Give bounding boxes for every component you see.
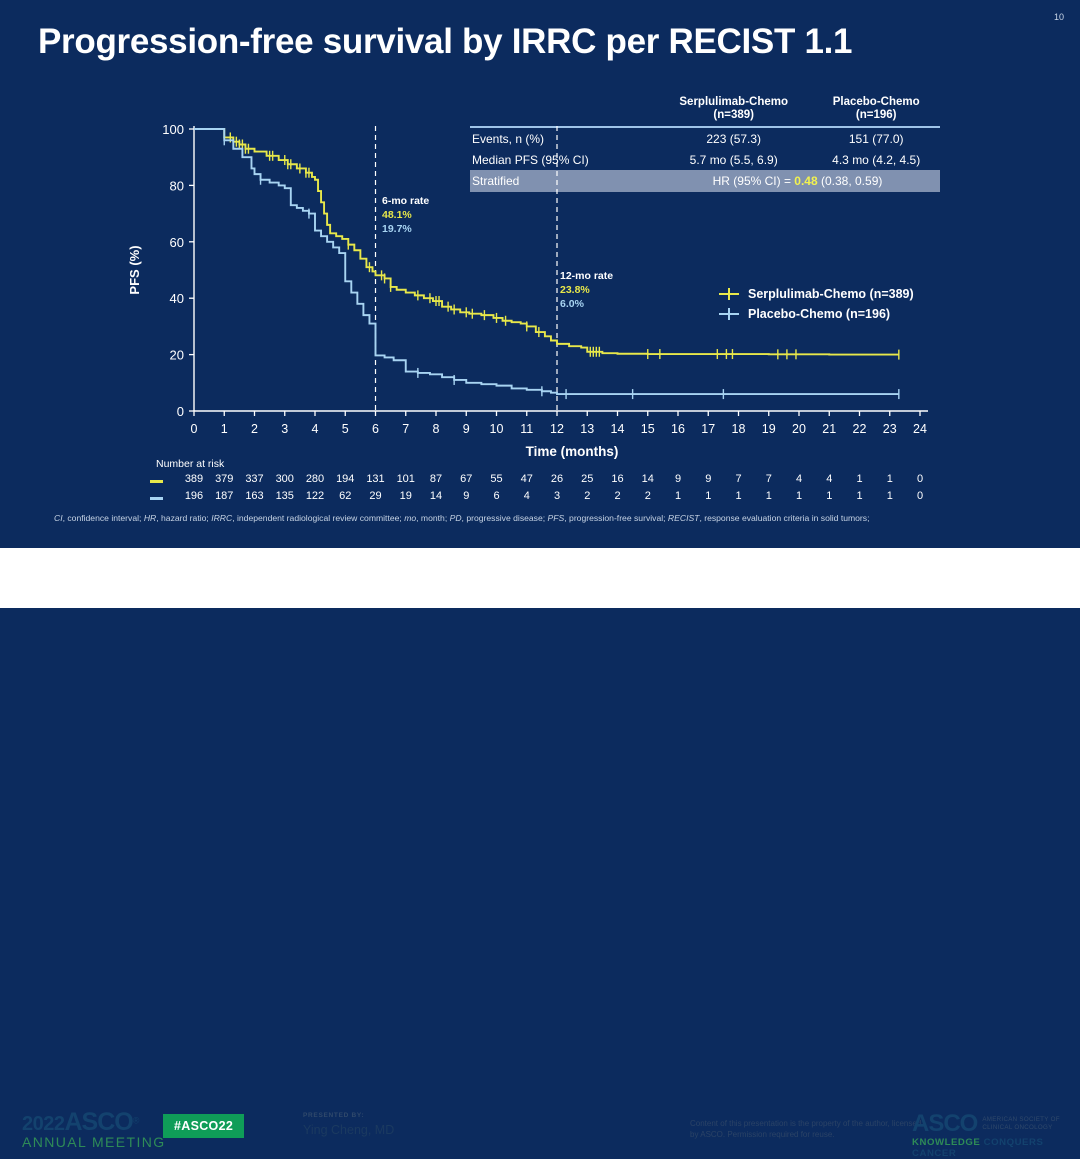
svg-text:21: 21 bbox=[822, 422, 836, 436]
risk-count: 87 bbox=[423, 473, 449, 485]
asco-logo-right: ASCO AMERICAN SOCIETY OF CLINICAL ONCOLO… bbox=[912, 1113, 1080, 1159]
asco-subtitle: AMERICAN SOCIETY OF CLINICAL ONCOLOGY bbox=[982, 1116, 1059, 1132]
svg-text:16: 16 bbox=[671, 422, 685, 436]
hashtag-badge: #ASCO22 bbox=[163, 1114, 244, 1138]
risk-count: 3 bbox=[544, 490, 570, 502]
svg-text:2: 2 bbox=[251, 422, 258, 436]
legend-label-placebo: Placebo-Chemo (n=196) bbox=[748, 307, 890, 321]
presented-by-label: PRESENTED BY: bbox=[303, 1112, 394, 1119]
risk-count: 62 bbox=[332, 490, 358, 502]
legend-label-serplulimab: Serplulimab-Chemo (n=389) bbox=[748, 287, 914, 301]
risk-count: 1 bbox=[847, 473, 873, 485]
risk-count: 19 bbox=[393, 490, 419, 502]
asco-wordmark: ASCO bbox=[912, 1113, 977, 1135]
annotation-12-month: 12-mo rate 23.8% 6.0% bbox=[560, 269, 613, 311]
risk-count: 4 bbox=[786, 473, 812, 485]
risk-count: 9 bbox=[665, 473, 691, 485]
svg-text:18: 18 bbox=[732, 422, 746, 436]
risk-count: 122 bbox=[302, 490, 328, 502]
risk-count: 300 bbox=[272, 473, 298, 485]
svg-text:20: 20 bbox=[792, 422, 806, 436]
risk-count: 1 bbox=[695, 490, 721, 502]
y-axis-label: PFS (%) bbox=[127, 245, 142, 294]
svg-text:9: 9 bbox=[463, 422, 470, 436]
legend-marker-icon bbox=[718, 287, 740, 301]
registered-mark-icon: ® bbox=[133, 1116, 140, 1126]
risk-count: 1 bbox=[877, 473, 903, 485]
svg-text:14: 14 bbox=[611, 422, 625, 436]
chart-axes: 020406080100 012345678910111213141516171… bbox=[162, 122, 928, 436]
risk-count: 14 bbox=[423, 490, 449, 502]
risk-count: 29 bbox=[363, 490, 389, 502]
legend-item-serplulimab: Serplulimab-Chemo (n=389) bbox=[718, 284, 914, 304]
svg-text:24: 24 bbox=[913, 422, 927, 436]
risk-count: 6 bbox=[484, 490, 510, 502]
annotation-6-serplulimab: 48.1% bbox=[382, 208, 429, 222]
risk-row-color-swatch bbox=[150, 497, 163, 500]
chart-legend: Serplulimab-Chemo (n=389) Placebo-Chemo … bbox=[718, 284, 914, 324]
risk-count: 9 bbox=[695, 473, 721, 485]
svg-text:4: 4 bbox=[312, 422, 319, 436]
svg-text:23: 23 bbox=[883, 422, 897, 436]
legend-marker-icon bbox=[718, 307, 740, 321]
svg-text:6: 6 bbox=[372, 422, 379, 436]
risk-count: 280 bbox=[302, 473, 328, 485]
risk-count: 187 bbox=[211, 490, 237, 502]
risk-count: 131 bbox=[363, 473, 389, 485]
svg-text:0: 0 bbox=[177, 404, 184, 419]
reference-lines bbox=[376, 126, 558, 411]
svg-text:8: 8 bbox=[433, 422, 440, 436]
svg-text:60: 60 bbox=[170, 235, 184, 250]
risk-count: 1 bbox=[726, 490, 752, 502]
risk-count: 16 bbox=[605, 473, 631, 485]
logo-annual-meeting: ANNUAL MEETING bbox=[22, 1134, 166, 1150]
risk-count: 55 bbox=[484, 473, 510, 485]
annotation-12-title: 12-mo rate bbox=[560, 269, 613, 283]
svg-text:100: 100 bbox=[162, 122, 184, 137]
asco-tagline: KNOWLEDGE CONQUERS CANCER bbox=[912, 1137, 1080, 1159]
number-at-risk-table: 3893793373002801941311018767554726251614… bbox=[150, 473, 950, 507]
presenter-name: Ying Cheng, MD bbox=[303, 1123, 394, 1137]
risk-count: 163 bbox=[242, 490, 268, 502]
svg-text:7: 7 bbox=[402, 422, 409, 436]
slide-footer: 2022ASCO® ANNUAL MEETING #ASCO22 PRESENT… bbox=[0, 548, 1080, 608]
risk-count: 4 bbox=[514, 490, 540, 502]
annotation-6-placebo: 19.7% bbox=[382, 222, 429, 236]
annotation-12-placebo: 6.0% bbox=[560, 297, 613, 311]
svg-text:5: 5 bbox=[342, 422, 349, 436]
risk-count: 2 bbox=[574, 490, 600, 502]
svg-text:40: 40 bbox=[170, 291, 184, 306]
svg-text:17: 17 bbox=[701, 422, 715, 436]
risk-count: 0 bbox=[907, 473, 933, 485]
svg-text:22: 22 bbox=[853, 422, 867, 436]
annotation-12-serplulimab: 23.8% bbox=[560, 283, 613, 297]
risk-count: 1 bbox=[847, 490, 873, 502]
logo-asco: ASCO bbox=[65, 1108, 133, 1136]
risk-count: 1 bbox=[816, 490, 842, 502]
svg-text:12: 12 bbox=[550, 422, 564, 436]
risk-count: 67 bbox=[453, 473, 479, 485]
svg-text:0: 0 bbox=[191, 422, 198, 436]
survival-curves bbox=[194, 129, 899, 399]
risk-count: 1 bbox=[877, 490, 903, 502]
svg-text:80: 80 bbox=[170, 178, 184, 193]
svg-text:19: 19 bbox=[762, 422, 776, 436]
risk-count: 337 bbox=[242, 473, 268, 485]
svg-text:15: 15 bbox=[641, 422, 655, 436]
number-at-risk-title: Number at risk bbox=[156, 458, 224, 470]
risk-count: 101 bbox=[393, 473, 419, 485]
risk-count: 2 bbox=[635, 490, 661, 502]
risk-count: 26 bbox=[544, 473, 570, 485]
slide: Progression-free survival by IRRC per RE… bbox=[0, 0, 1080, 608]
risk-count: 14 bbox=[635, 473, 661, 485]
risk-count: 1 bbox=[786, 490, 812, 502]
abbreviation-footnote: CI, confidence interval; HR, hazard rati… bbox=[54, 513, 870, 523]
risk-row-color-swatch bbox=[150, 480, 163, 483]
svg-text:3: 3 bbox=[281, 422, 288, 436]
risk-count: 7 bbox=[756, 473, 782, 485]
presenter-block: PRESENTED BY: Ying Cheng, MD bbox=[303, 1112, 394, 1137]
risk-count: 379 bbox=[211, 473, 237, 485]
risk-count: 7 bbox=[726, 473, 752, 485]
logo-year: 2022 bbox=[22, 1113, 65, 1135]
risk-count: 194 bbox=[332, 473, 358, 485]
risk-count: 0 bbox=[907, 490, 933, 502]
risk-count: 1 bbox=[665, 490, 691, 502]
svg-text:1: 1 bbox=[221, 422, 228, 436]
svg-text:10: 10 bbox=[490, 422, 504, 436]
risk-count: 4 bbox=[816, 473, 842, 485]
risk-count: 2 bbox=[605, 490, 631, 502]
risk-count: 1 bbox=[756, 490, 782, 502]
risk-count: 196 bbox=[181, 490, 207, 502]
number-at-risk-row-serplulimab: 3893793373002801941311018767554726251614… bbox=[150, 473, 950, 490]
risk-count: 135 bbox=[272, 490, 298, 502]
risk-count: 389 bbox=[181, 473, 207, 485]
risk-count: 47 bbox=[514, 473, 540, 485]
svg-text:11: 11 bbox=[520, 422, 533, 436]
copyright-text: Content of this presentation is the prop… bbox=[690, 1118, 925, 1140]
legend-item-placebo: Placebo-Chemo (n=196) bbox=[718, 304, 914, 324]
annotation-6-title: 6-mo rate bbox=[382, 194, 429, 208]
risk-count: 25 bbox=[574, 473, 600, 485]
x-axis-label: Time (months) bbox=[526, 444, 619, 459]
annotation-6-month: 6-mo rate 48.1% 19.7% bbox=[382, 194, 429, 236]
svg-text:13: 13 bbox=[580, 422, 594, 436]
asco-annual-meeting-logo: 2022ASCO® ANNUAL MEETING bbox=[22, 1108, 166, 1150]
number-at-risk-row-placebo: 196187163135122622919149643222111111110 bbox=[150, 490, 950, 507]
risk-count: 9 bbox=[453, 490, 479, 502]
svg-text:20: 20 bbox=[170, 348, 184, 363]
